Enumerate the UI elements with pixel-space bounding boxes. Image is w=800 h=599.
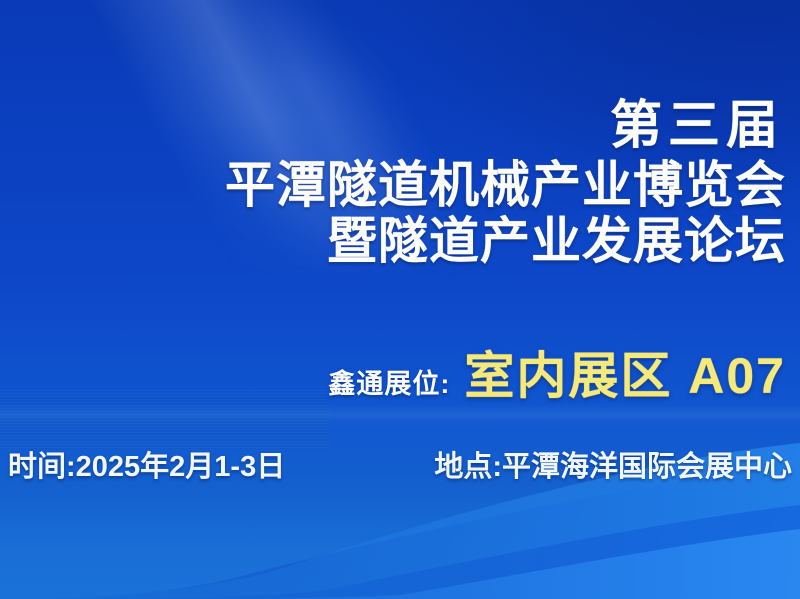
event-poster: 第三届 平潭隧道机械产业博览会 暨隧道产业发展论坛 鑫通展位: 室内展区 A07…	[0, 0, 800, 599]
info-row: 时间:2025年2月1-3日 地点:平潭海洋国际会展中心	[8, 443, 792, 485]
booth-row: 鑫通展位: 室内展区 A07	[328, 336, 786, 408]
headline-line-edition: 第三届	[0, 100, 786, 152]
booth-number: 室内展区 A07	[464, 336, 786, 408]
booth-label: 鑫通展位:	[328, 362, 450, 401]
event-date: 时间:2025年2月1-3日	[8, 443, 285, 485]
headline-line-expo-name: 平潭隧道机械产业博览会	[0, 160, 786, 210]
event-venue: 地点:平潭海洋国际会展中心	[434, 443, 792, 485]
headline-block: 第三届 平潭隧道机械产业博览会 暨隧道产业发展论坛	[0, 100, 786, 266]
headline-line-forum-name: 暨隧道产业发展论坛	[0, 216, 786, 266]
